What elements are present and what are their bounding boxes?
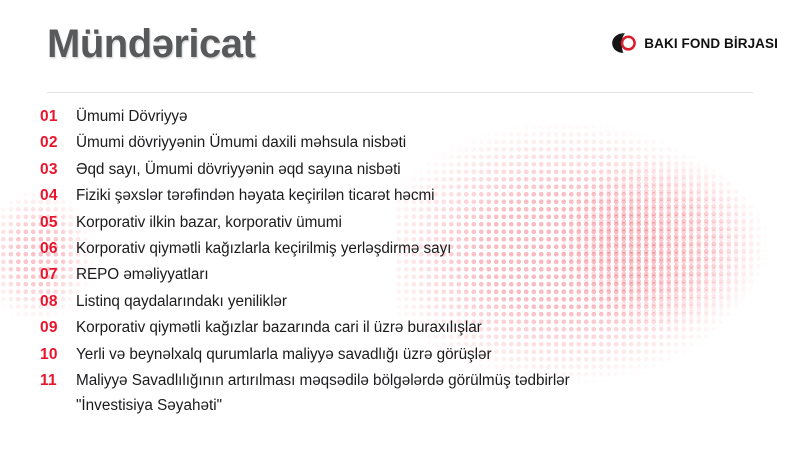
page-title: Mündəricat [47,22,255,67]
toc-item-number: 04 [40,186,76,205]
table-of-contents: 01 Ümumi Dövriyyə 02 Ümumi dövriyyənin Ü… [40,107,780,415]
toc-item-label: Korporativ qiymətli kağızlar bazarında c… [76,318,780,337]
toc-item-number: 07 [40,265,76,284]
toc-item-number: 06 [40,239,76,258]
toc-item-01[interactable]: 01 Ümumi Dövriyyə [40,107,780,126]
bfb-swoosh-mark-icon [611,32,637,54]
toc-item-10[interactable]: 10 Yerli və beynəlxalq qurumlarla maliyy… [40,345,780,364]
slide-header: Mündəricat BAKI FOND BİRJASI [0,0,800,96]
toc-item-label: REPO əməliyyatları [76,265,780,284]
toc-item-06[interactable]: 06 Korporativ qiymətli kağızlarla keçiri… [40,239,780,258]
toc-item-number: 09 [40,318,76,337]
toc-item-04[interactable]: 04 Fiziki şəxslər tərəfindən həyata keçi… [40,186,780,205]
toc-item-number: 10 [40,345,76,364]
toc-item-label: Ümumi Dövriyyə [76,107,780,126]
toc-item-08[interactable]: 08 Listinq qaydalarındakı yeniliklər [40,292,780,311]
toc-item-03[interactable]: 03 Əqd sayı, Ümumi dövriyyənin əqd sayın… [40,160,780,179]
toc-item-07[interactable]: 07 REPO əməliyyatları [40,265,780,284]
toc-item-label: Ümumi dövriyyənin Ümumi daxili məhsula n… [76,133,780,152]
toc-item-number: 03 [40,160,76,179]
toc-item-label: Maliyyə Savadlılığının artırılması məqsə… [76,371,780,390]
toc-item-11-subtitle: "İnvestisiya Səyahəti" [76,396,780,415]
toc-item-11[interactable]: 11 Maliyyə Savadlılığının artırılması mə… [40,371,780,390]
toc-item-number: 01 [40,107,76,126]
brand-logo: BAKI FOND BİRJASI [611,32,778,54]
toc-item-number: 08 [40,292,76,311]
slide-canvas: Mündəricat BAKI FOND BİRJASI 01 Ümumi Dö… [0,0,800,450]
toc-item-number: 11 [40,371,76,390]
toc-item-label: Yerli və beynəlxalq qurumlarla maliyyə s… [76,345,780,364]
brand-logo-text: BAKI FOND BİRJASI [644,36,778,51]
toc-item-label: Fiziki şəxslər tərəfindən həyata keçiril… [76,186,780,205]
toc-item-label: Korporativ ilkin bazar, korporativ ümumi [76,213,780,232]
toc-item-label: Əqd sayı, Ümumi dövriyyənin əqd sayına n… [76,160,780,179]
toc-item-09[interactable]: 09 Korporativ qiymətli kağızlar bazarınd… [40,318,780,337]
toc-item-number: 05 [40,213,76,232]
header-divider [47,92,753,93]
toc-item-number: 02 [40,133,76,152]
toc-item-02[interactable]: 02 Ümumi dövriyyənin Ümumi daxili məhsul… [40,133,780,152]
toc-item-label: Korporativ qiymətli kağızlarla keçirilmi… [76,239,780,258]
toc-item-label: Listinq qaydalarındakı yeniliklər [76,292,780,311]
toc-item-05[interactable]: 05 Korporativ ilkin bazar, korporativ üm… [40,213,780,232]
